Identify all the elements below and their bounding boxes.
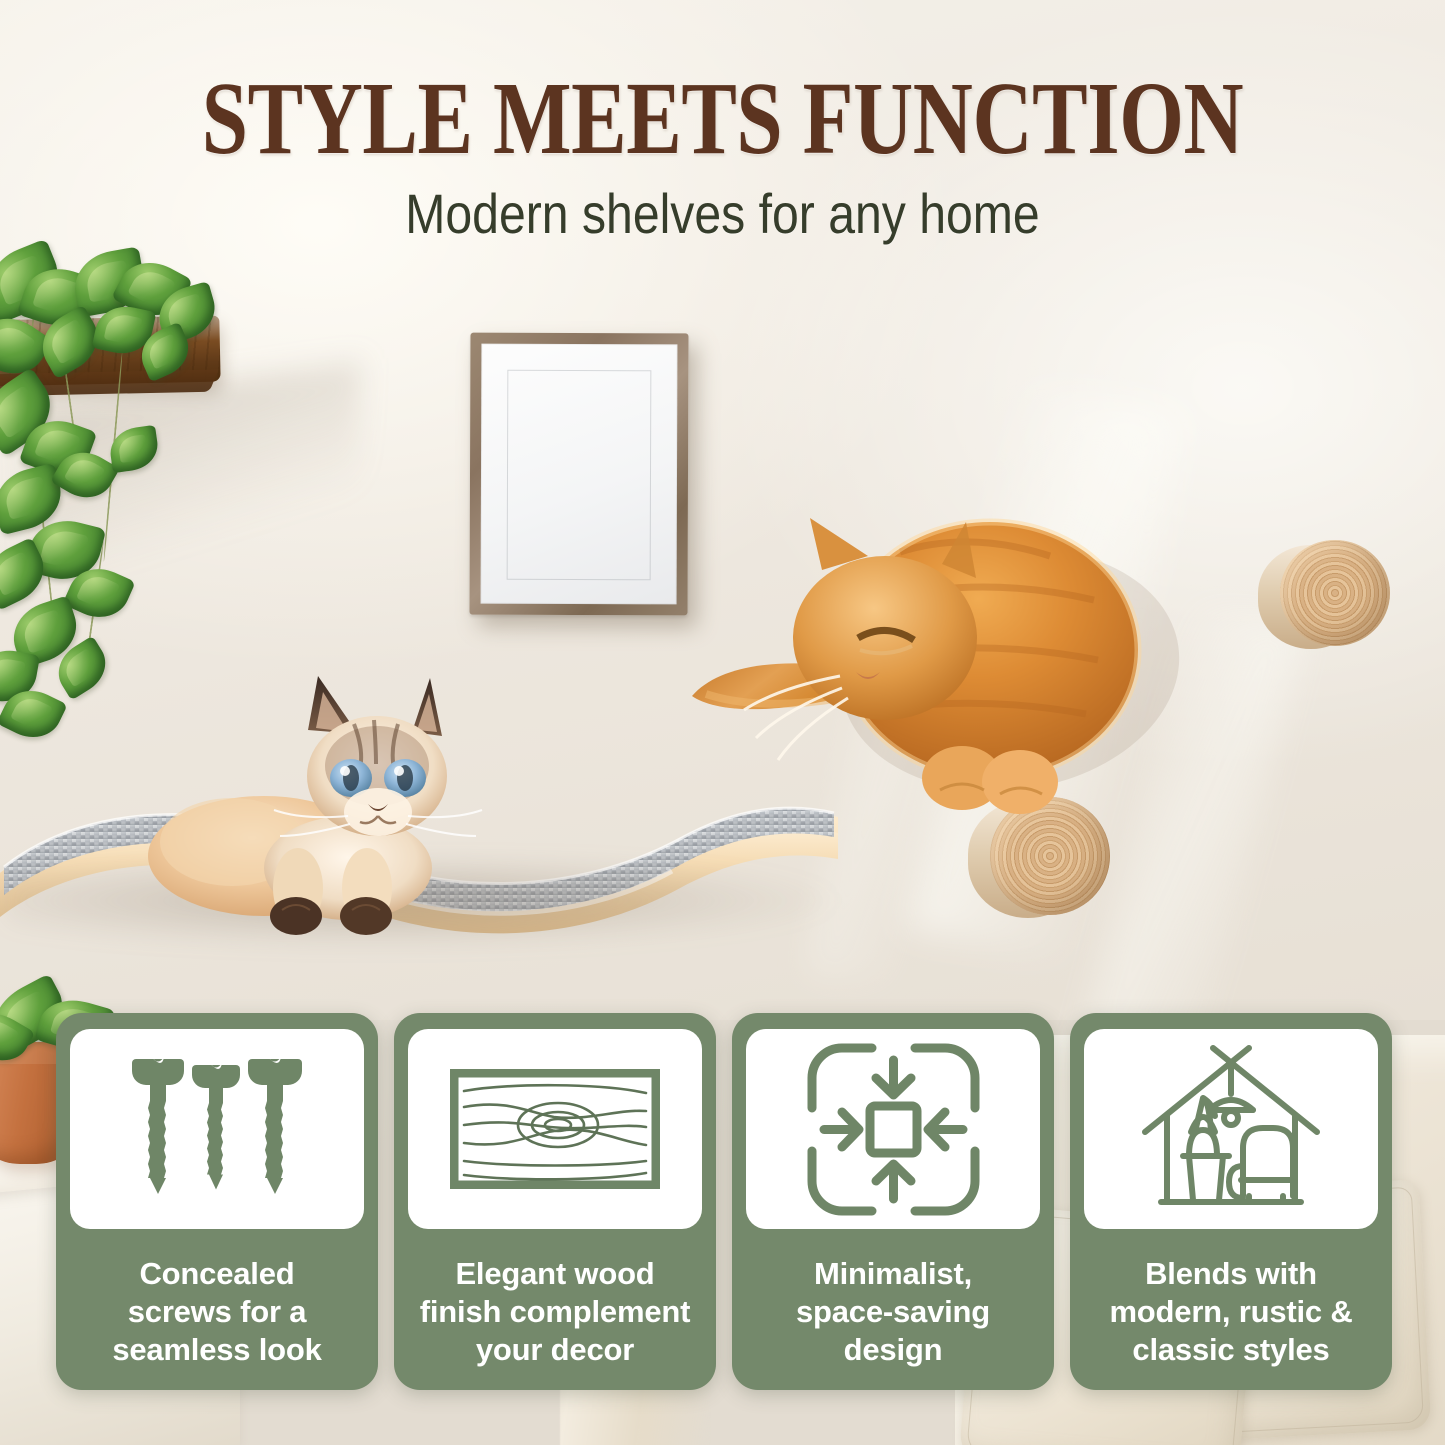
compress-arrows-icon	[806, 1042, 981, 1217]
feature-card-row: Concealed screws for a seamless look	[56, 1013, 1392, 1390]
picture-frame-inner-line	[507, 370, 652, 581]
cat-paw	[982, 750, 1058, 814]
feature-icon-box	[1084, 1029, 1378, 1229]
feature-card-concealed-screws[interactable]: Concealed screws for a seamless look	[56, 1013, 378, 1390]
product-banner: STYLE MEETS FUNCTION Modern shelves for …	[0, 0, 1445, 1445]
picture-frame	[470, 333, 689, 616]
page-subtitle: Modern shelves for any home	[101, 185, 1344, 244]
feature-icon-box	[408, 1029, 702, 1229]
feature-icon-box	[70, 1029, 364, 1229]
house-interior-icon	[1131, 1044, 1331, 1214]
wood-grain-icon	[450, 1069, 660, 1189]
feature-card-wood-finish[interactable]: Elegant wood finish complement your deco…	[394, 1013, 716, 1390]
feature-card-label: Minimalist, space-saving design	[796, 1255, 990, 1368]
page-title: STYLE MEETS FUNCTION	[145, 66, 1301, 172]
feature-card-space-saving[interactable]: Minimalist, space-saving design	[732, 1013, 1054, 1390]
feature-card-style-blend[interactable]: Blends with modern, rustic & classic sty…	[1070, 1013, 1392, 1390]
feature-icon-box	[746, 1029, 1040, 1229]
sisal-step-upper	[1280, 540, 1390, 646]
screws-icon	[122, 1049, 312, 1209]
orange-cat	[690, 460, 1250, 880]
picture-frame-mat	[481, 344, 678, 605]
siamese-cat	[112, 670, 582, 935]
feature-card-label: Blends with modern, rustic & classic sty…	[1109, 1255, 1352, 1368]
feature-card-label: Elegant wood finish complement your deco…	[420, 1255, 690, 1368]
feature-card-label: Concealed screws for a seamless look	[112, 1255, 321, 1368]
